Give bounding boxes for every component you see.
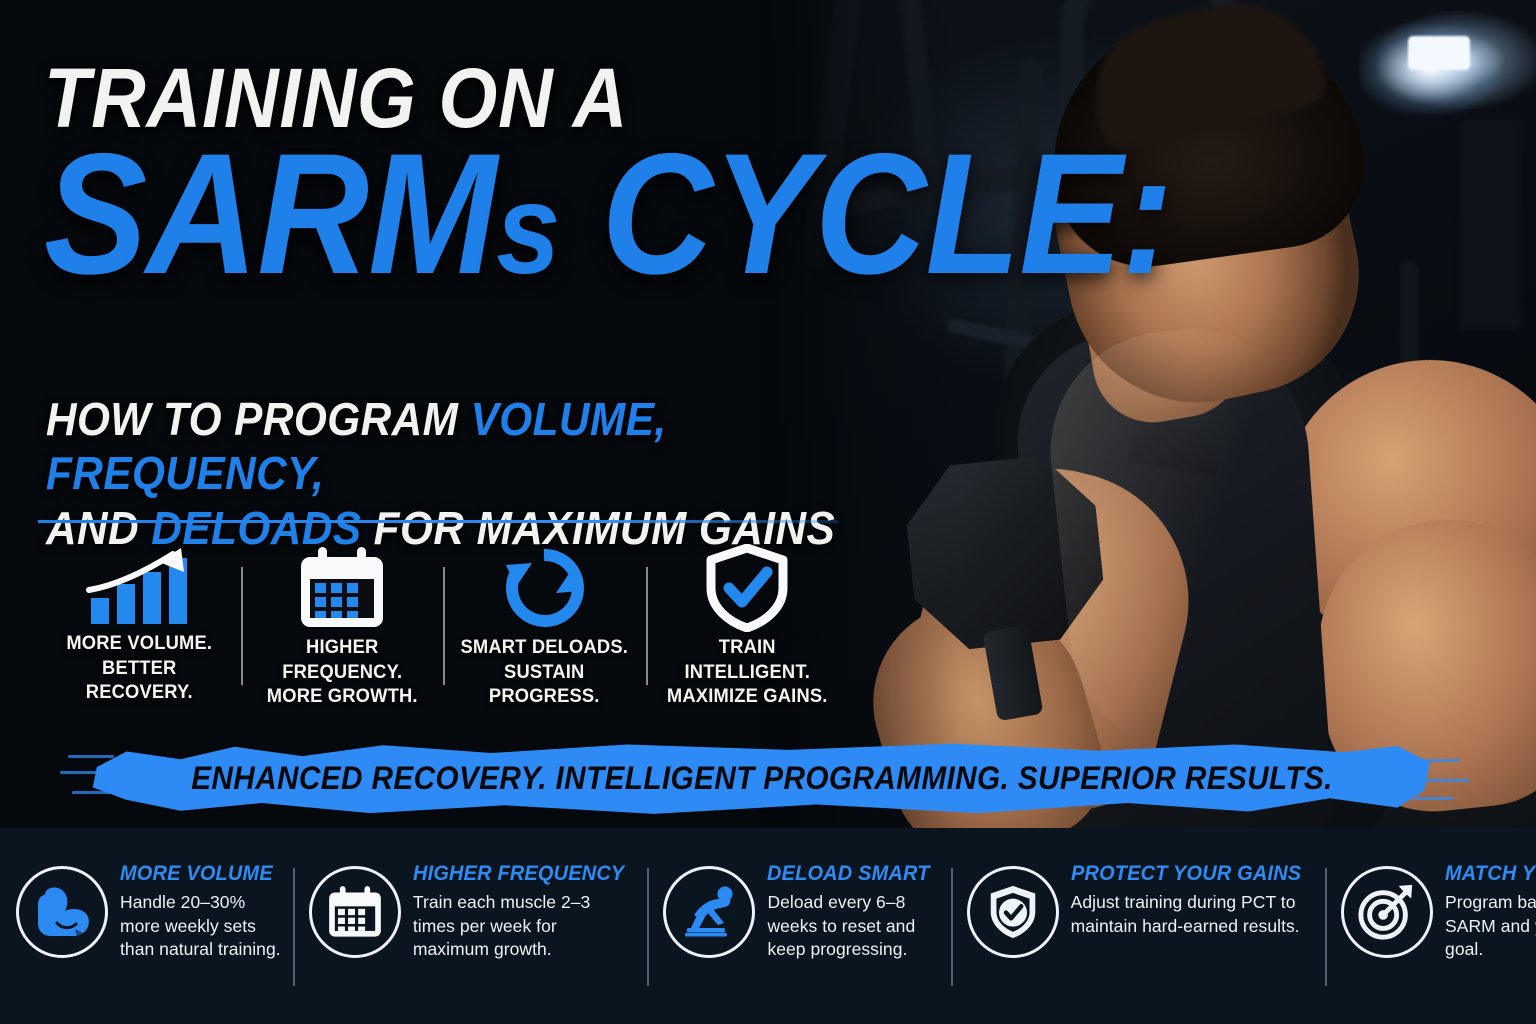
bottom-card-more-volume: MORE VOLUME Handle 20–30% more weekly se… [0,860,293,992]
feature-item-train-intelligent: TRAIN INTELLIGENT. MAXIMIZE GAINS. [646,545,849,705]
bar-chart-growth-icon [85,545,193,627]
bottom-card-body: MORE VOLUME Handle 20–30% more weekly se… [120,860,281,962]
bottom-card-body: DELOAD SMART Deload every 6–8 weeks to r… [767,860,938,962]
shield-check-icon [967,866,1059,958]
dumbbell-handle [983,625,1044,722]
infographic-poster: TRAINING ON A SARMs CYCLE: HOW TO PROGRA… [0,0,1536,1024]
target-arrow-icon [1341,866,1433,958]
tagline-banner: ENHANCED RECOVERY. INTELLIGENT PROGRAMMI… [86,739,1438,817]
bottom-card-higher-frequency: HIGHER FREQUENCY Train each muscle 2–3 t… [293,860,648,992]
athlete-light-sheen [1039,318,1341,763]
subheadline: HOW TO PROGRAM VOLUME, FREQUENCY, AND DE… [46,392,856,555]
feature-row: MORE VOLUME. BETTER RECOVERY. [38,545,848,705]
page-title: TRAINING ON A SARMs CYCLE: [44,62,964,287]
title-line-2: SARMs CYCLE: [44,142,872,286]
bottom-card-description: Program based on the SARM and your speci… [1445,891,1536,962]
refresh-cycle-icon [498,545,590,631]
athlete-tank-strap [1127,294,1242,476]
feature-line-1: SMART DELOADS. [455,635,634,660]
bottom-card-strip: MORE VOLUME Handle 20–30% more weekly se… [0,828,1536,1024]
feature-line-1: TRAIN INTELLIGENT. [657,635,836,684]
bottom-card-title: PROTECT YOUR GAINS [1071,862,1301,886]
banner-streak [1414,797,1454,800]
bottom-card-body: PROTECT YOUR GAINS Adjust training durin… [1071,860,1313,938]
bottom-card-description: Train each muscle 2–3 times per week for… [413,891,636,962]
bottom-card-description: Adjust training during PCT to maintain h… [1071,891,1313,938]
section-divider [38,520,838,523]
calendar-icon [309,866,401,958]
gym-background-rack [1460,120,1520,330]
title-cycle-text: CYCLE: [559,118,1172,310]
banner-streak [68,755,114,758]
bottom-card-description: Deload every 6–8 weeks to reset and keep… [767,891,938,962]
banner-text: ENHANCED RECOVERY. INTELLIGENT PROGRAMMI… [133,739,1390,817]
feature-line-2: SUSTAIN PROGRESS. [455,660,634,709]
banner-streak [1406,759,1460,762]
shield-check-icon [703,545,791,631]
subheadline-plain-1: HOW TO PROGRAM [46,393,471,445]
feature-item-more-volume: MORE VOLUME. BETTER RECOVERY. [38,545,241,705]
title-sarm-text: SARM [44,118,496,310]
flexed-bicep-icon [16,866,108,958]
bottom-card-title: MATCH YOUR GOAL [1445,862,1536,886]
gym-machine-post-4 [1400,260,1418,590]
feature-line-1: HIGHER FREQUENCY. [252,635,431,684]
feature-line-2: BETTER RECOVERY. [50,656,229,705]
feature-line-1: MORE VOLUME. [50,631,229,656]
feature-line-2: MORE GROWTH. [252,684,431,709]
feature-text-smart-deloads: SMART DELOADS. SUSTAIN PROGRESS. [455,635,634,709]
calendar-icon [296,545,388,631]
banner-streak [60,771,120,774]
bottom-card-title: DELOAD SMART [767,862,930,886]
gym-lamp [1408,36,1470,70]
athlete-shoulder [1261,341,1536,680]
bottom-card-title: MORE VOLUME [120,862,273,886]
banner-streak [72,791,110,794]
feature-text-higher-frequency: HIGHER FREQUENCY. MORE GROWTH. [252,635,431,709]
sprinter-start-icon [663,866,755,958]
bottom-card-deload-smart: DELOAD SMART Deload every 6–8 weeks to r… [647,860,950,992]
headline-column: TRAINING ON A SARMs CYCLE: HOW TO PROGRA… [0,0,980,845]
bottom-card-body: HIGHER FREQUENCY Train each muscle 2–3 t… [413,860,636,962]
bottom-card-title: HIGHER FREQUENCY [413,862,624,886]
bottom-card-description: Handle 20–30% more weekly sets than natu… [120,891,281,962]
gym-lamp-glow [1360,24,1500,114]
bottom-card-body: MATCH YOUR GOAL Program based on the SAR… [1445,860,1536,962]
subheadline-line-1: HOW TO PROGRAM VOLUME, FREQUENCY, [46,392,856,501]
feature-text-more-volume: MORE VOLUME. BETTER RECOVERY. [50,631,229,705]
feature-line-2: MAXIMIZE GAINS. [657,684,836,709]
feature-item-smart-deloads: SMART DELOADS. SUSTAIN PROGRESS. [443,545,646,705]
feature-item-higher-frequency: HIGHER FREQUENCY. MORE GROWTH. [241,545,444,705]
feature-text-train-intelligent: TRAIN INTELLIGENT. MAXIMIZE GAINS. [657,635,836,709]
bottom-card-match-your-goal: MATCH YOUR GOAL Program based on the SAR… [1325,860,1536,992]
gym-machine-arch [1060,0,1240,130]
banner-streak [1404,779,1470,782]
bottom-card-protect-your-gains: PROTECT YOUR GAINS Adjust training durin… [951,860,1325,992]
title-sarm-suffix: s [496,158,559,301]
